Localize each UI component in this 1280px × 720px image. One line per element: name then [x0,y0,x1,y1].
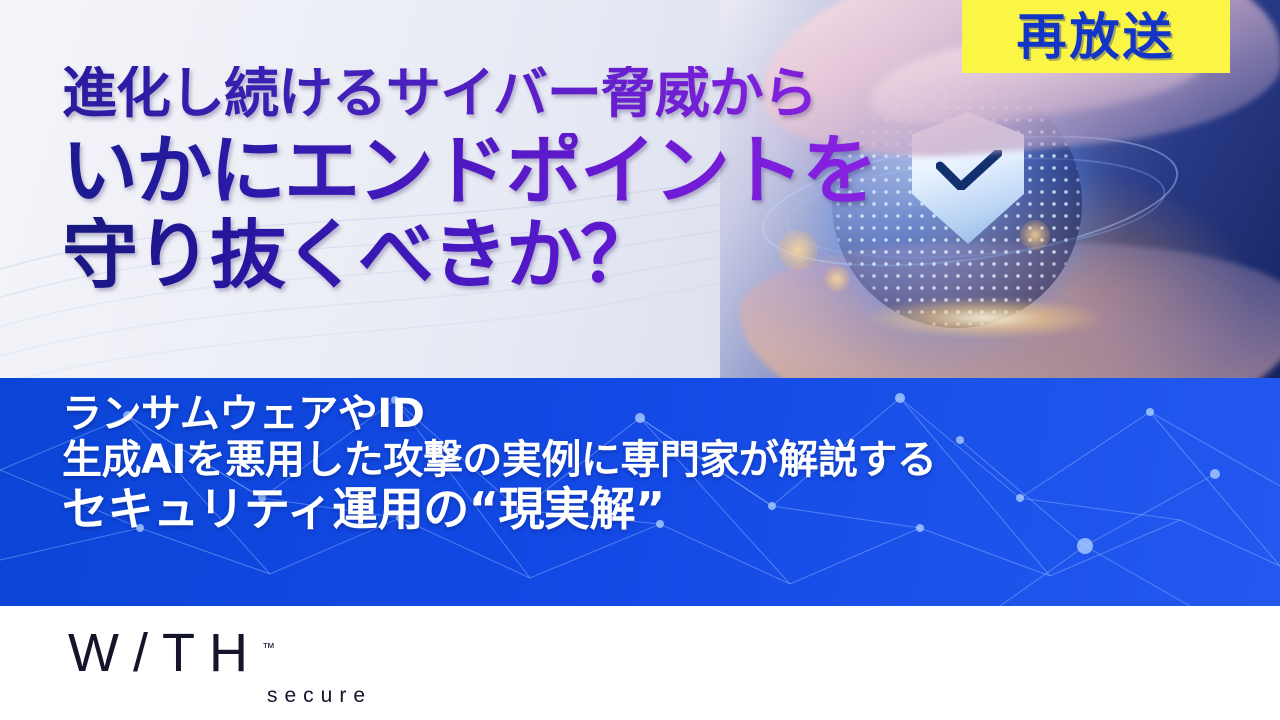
headline-line-2: いかにエンドポイントを [62,133,876,209]
footer-bar: W/TH™ secure WEBINAR 2025 8/15 金 11:00−1… [0,606,1280,720]
withsecure-wordmark: W/TH™ [68,626,378,680]
rebroadcast-badge-label: 再放送 [1017,12,1176,62]
rebroadcast-badge: 再放送 [962,0,1230,73]
subtitle-line-3: セキュリティ運用の“現実解” [62,483,936,535]
withsecure-logo: W/TH™ secure [68,626,378,702]
subtitle-text: ランサムウェアやID 生成AIを悪用した攻撃の実例に専門家が解説する セキュリテ… [62,392,936,536]
headline: 進化し続けるサイバー脅威から いかにエンドポイントを 守り抜くべきか？ [62,66,876,293]
subtitle-line-1: ランサムウェアやID [62,392,936,438]
light-flare-decoration [870,298,1100,338]
headline-line-3: 守り抜くべきか？ [62,217,876,293]
webinar-banner: 再放送 進化し続けるサイバー脅威から いかにエンドポイントを 守り抜くべきか？ [0,0,1280,720]
bokeh-light-3 [1020,220,1050,250]
subtitle-line-2: 生成AIを悪用した攻撃の実例に専門家が解説する [62,438,936,484]
hero-section: 再放送 進化し続けるサイバー脅威から いかにエンドポイントを 守り抜くべきか？ [0,0,1280,378]
subtitle-band: ランサムウェアやID 生成AIを悪用した攻撃の実例に専門家が解説する セキュリテ… [0,378,1280,606]
headline-line-1: 進化し続けるサイバー脅威から [62,66,876,121]
trademark-icon: ™ [262,640,275,655]
withsecure-subword: secure [68,684,378,708]
withsecure-wordmark-text: W/TH [68,623,262,683]
